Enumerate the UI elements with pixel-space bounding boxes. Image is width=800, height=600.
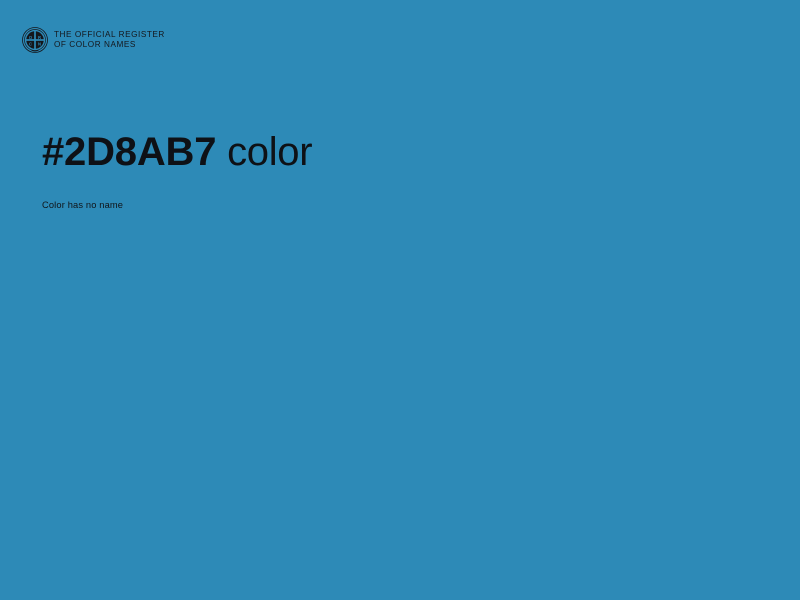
color-hex-value: #2D8AB7 (42, 130, 216, 174)
color-title-suffix (216, 130, 227, 174)
page-title: #2D8AB7 color (42, 128, 312, 176)
svg-text:C: C (29, 42, 32, 47)
color-swatch-area (0, 230, 800, 600)
brand-wordmark: THE OFFICIAL REGISTER OF COLOR NAMES (54, 30, 165, 49)
page-title-block: #2D8AB7 color (42, 128, 312, 176)
brand-line-1: THE OFFICIAL REGISTER (54, 30, 165, 40)
site-brand-lockup[interactable]: O R C N THE OFFICIAL REGISTER OF COLOR N… (22, 27, 165, 53)
svg-text:N: N (38, 42, 41, 47)
color-title-suffix-word: color (227, 130, 312, 174)
svg-text:R: R (38, 35, 41, 40)
color-name-status: Color has no name (42, 199, 123, 211)
brand-line-2: OF COLOR NAMES (54, 40, 165, 50)
register-seal-icon: O R C N (22, 27, 48, 53)
color-detail-page: O R C N THE OFFICIAL REGISTER OF COLOR N… (0, 0, 800, 600)
